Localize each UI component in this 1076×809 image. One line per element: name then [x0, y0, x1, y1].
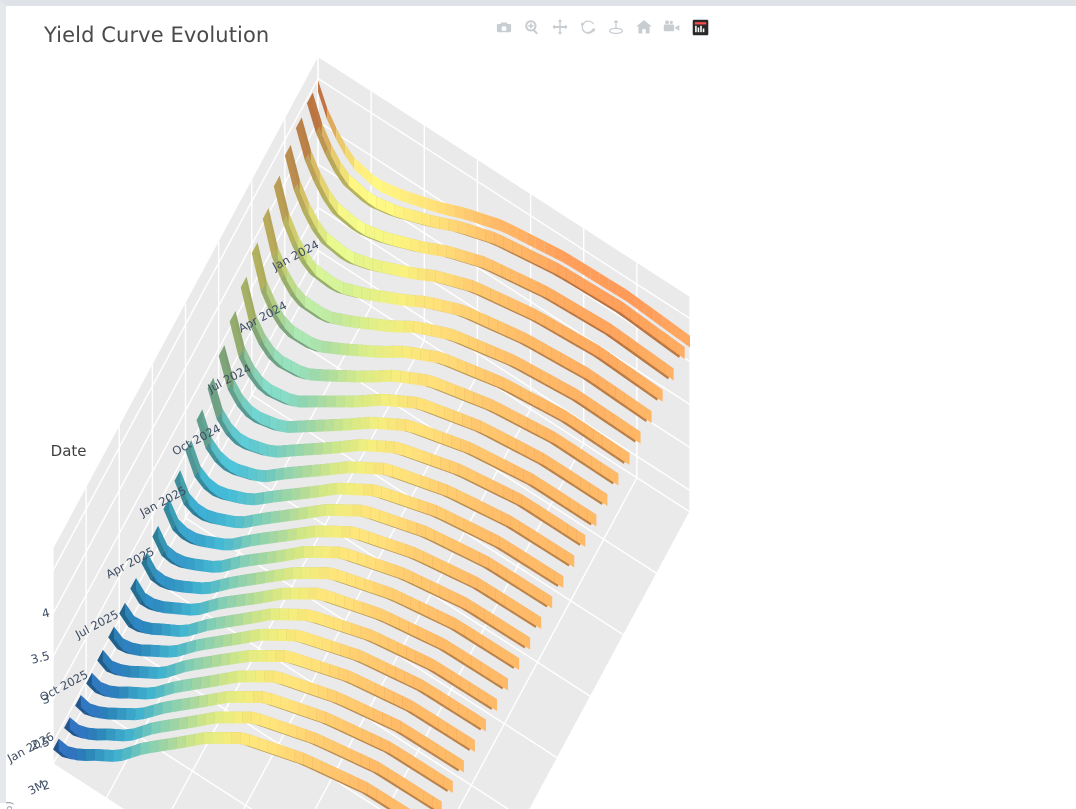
svg-text:Apr 2024: Apr 2024: [236, 298, 289, 335]
plot-card: Yield Curve Evolution: [0, 0, 1076, 803]
axis-labels: Jan 2024Apr 2024Jul 2024Oct 2024Jan 2025…: [6, 237, 422, 809]
yield-surface: [53, 80, 690, 809]
svg-text:Jan 2026: Jan 2026: [6, 729, 56, 766]
plot-walls: [53, 57, 690, 809]
svg-text:3M: 3M: [26, 777, 48, 797]
svg-text:3: 3: [40, 692, 51, 707]
svg-text:Yield (%): Yield (%): [6, 801, 15, 809]
reset-camera-home-icon[interactable]: [634, 17, 654, 37]
svg-text:2.5: 2.5: [29, 735, 51, 753]
svg-text:Date: Date: [51, 442, 87, 460]
svg-text:Jan 2025: Jan 2025: [137, 483, 189, 520]
svg-text:Apr 2025: Apr 2025: [103, 544, 156, 581]
zoom-icon[interactable]: [522, 17, 542, 37]
svg-text:4: 4: [40, 606, 51, 621]
svg-text:3.5: 3.5: [29, 649, 51, 667]
plotly-logo-icon[interactable]: [690, 17, 710, 37]
svg-text:Oct 2025: Oct 2025: [37, 667, 90, 704]
orbital-rotation-icon[interactable]: [578, 17, 598, 37]
svg-text:Jan 2024: Jan 2024: [269, 237, 321, 274]
plot-gridlines: [53, 57, 690, 809]
svg-text:Jul 2024: Jul 2024: [205, 361, 254, 396]
pan-icon[interactable]: [550, 17, 570, 37]
reset-camera-lastsave-icon[interactable]: [662, 17, 682, 37]
surface-plot-3d[interactable]: Jan 2024Apr 2024Jul 2024Oct 2024Jan 2025…: [6, 6, 1076, 809]
svg-text:2: 2: [40, 778, 51, 793]
download-plot-icon[interactable]: [494, 17, 514, 37]
turntable-rotation-icon[interactable]: [606, 17, 626, 37]
svg-text:Jul 2025: Jul 2025: [72, 607, 121, 642]
page-title: Yield Curve Evolution: [44, 23, 269, 47]
svg-text:Oct 2024: Oct 2024: [170, 421, 223, 458]
plotly-modebar[interactable]: [494, 16, 710, 38]
